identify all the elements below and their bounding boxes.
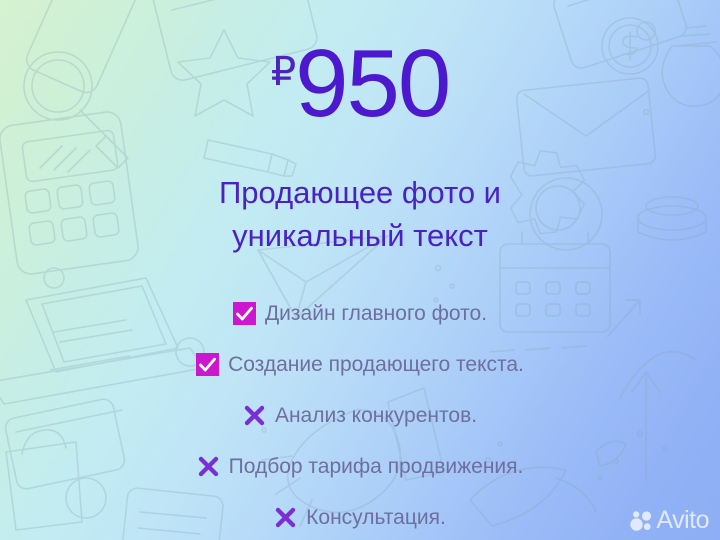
list-item-label: Дизайн главного фото. bbox=[265, 303, 487, 324]
avito-dots-logo-icon bbox=[629, 509, 653, 533]
list-item: Подбор тарифа продвижения. bbox=[0, 441, 720, 492]
price-amount: 950 bbox=[295, 30, 449, 137]
headline: Продающее фото и уникальный текст bbox=[0, 172, 720, 258]
list-item: Анализ конкурентов. bbox=[0, 390, 720, 441]
headline-line-1: Продающее фото и bbox=[0, 172, 720, 215]
cross-icon bbox=[243, 404, 266, 427]
list-item-label: Создание продающего текста. bbox=[228, 354, 524, 375]
promo-poster: ₽950 Продающее фото и уникальный текст Д… bbox=[0, 0, 720, 540]
check-icon bbox=[196, 353, 219, 376]
avito-watermark: Avito bbox=[629, 508, 709, 533]
feature-list: Дизайн главного фото. Создание продающег… bbox=[0, 288, 720, 540]
list-item-label: Анализ конкурентов. bbox=[275, 405, 477, 426]
cross-icon bbox=[274, 506, 297, 529]
list-item-label: Подбор тарифа продвижения. bbox=[229, 456, 524, 477]
avito-brand-text: Avito bbox=[656, 508, 709, 533]
price-block: ₽950 bbox=[0, 36, 720, 132]
check-icon bbox=[233, 302, 256, 325]
list-item: Консультация. bbox=[0, 492, 720, 540]
cross-icon bbox=[197, 455, 220, 478]
headline-line-2: уникальный текст bbox=[0, 215, 720, 258]
list-item-label: Консультация. bbox=[306, 507, 446, 528]
list-item: Создание продающего текста. bbox=[0, 339, 720, 390]
list-item: Дизайн главного фото. bbox=[0, 288, 720, 339]
ruble-symbol: ₽ bbox=[271, 50, 295, 94]
